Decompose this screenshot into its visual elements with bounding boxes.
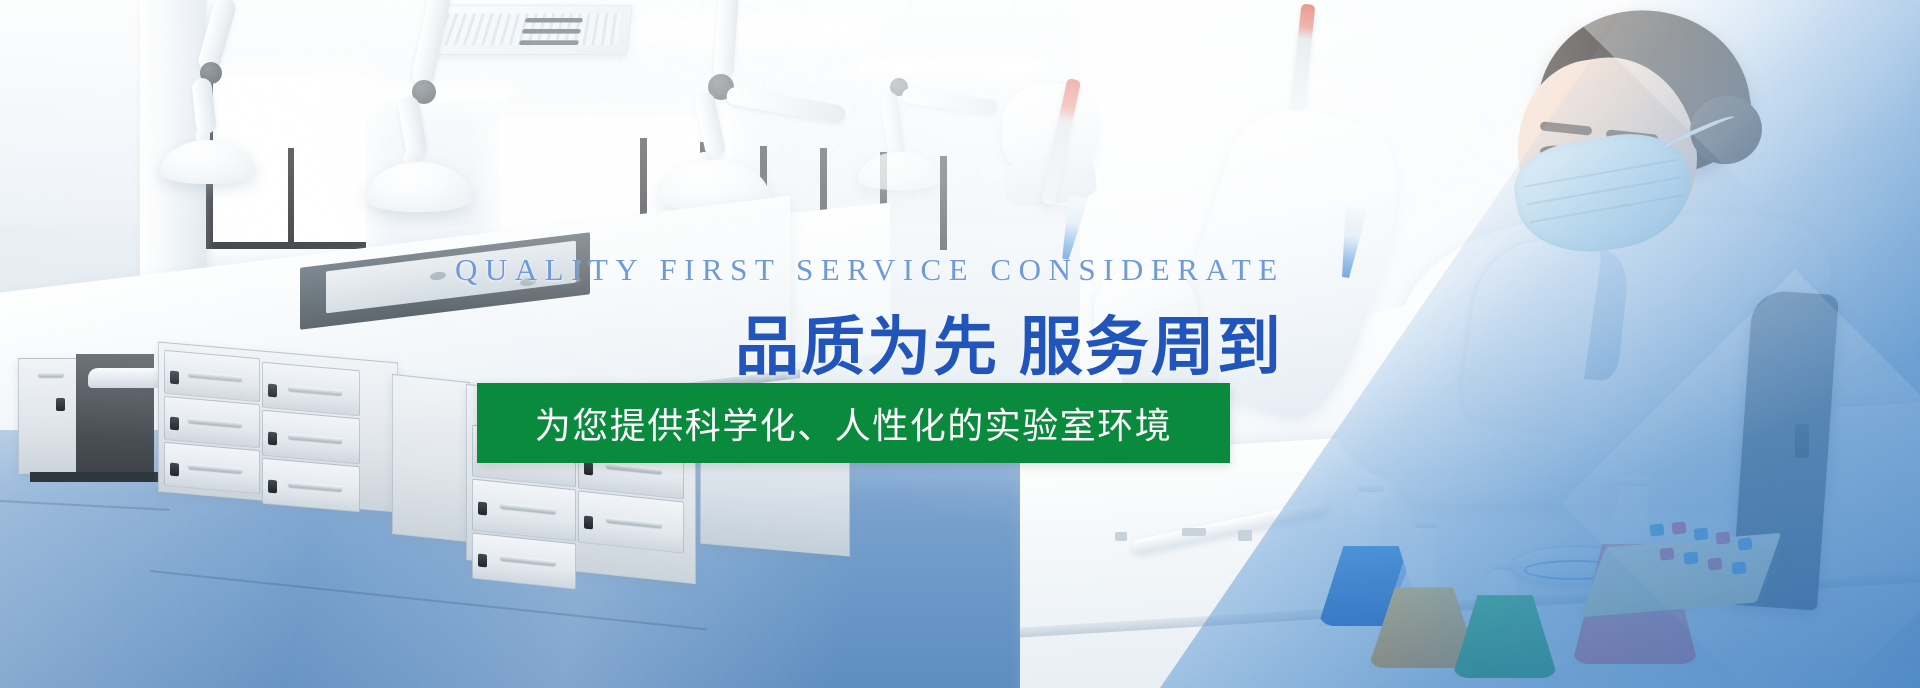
banner-eyebrow-english: QUALITY FIRST SERVICE CONSIDERATE [455, 252, 1285, 288]
banner-subtitle-text: 为您提供科学化、人性化的实验室环境 [535, 397, 1173, 449]
lab-hero-banner: QUALITY FIRST SERVICE CONSIDERATE 品质为先 服… [0, 0, 1920, 688]
banner-subtitle-bar: 为您提供科学化、人性化的实验室环境 [477, 383, 1230, 463]
banner-copy: QUALITY FIRST SERVICE CONSIDERATE 品质为先 服… [0, 0, 1920, 688]
banner-headline: 品质为先 服务周到 [735, 296, 1283, 388]
